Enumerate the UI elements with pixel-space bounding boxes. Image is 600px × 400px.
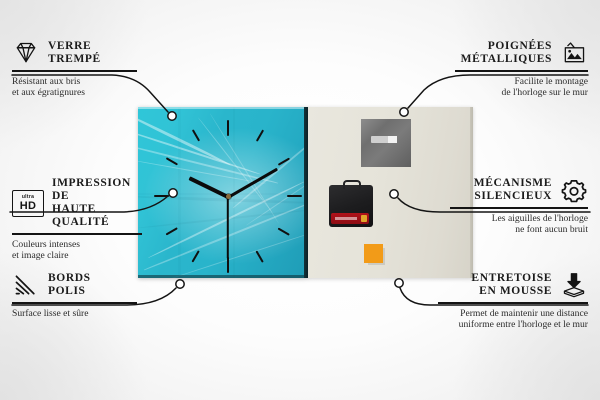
panel-highlight-top [138,107,308,109]
ultra-hd-icon-main-text: HD [20,201,37,212]
clock-center-hub [226,194,231,199]
callout-title-line1: MÉCANISME [474,177,552,190]
callout-rule [455,70,588,72]
callout-rule [12,302,137,304]
clock-tick [227,257,229,273]
clock-tick [154,195,169,197]
callout-verre-trempe[interactable]: VERRE TREMPÉ Résistant aux bris et aux é… [12,40,137,99]
callout-title-line2: HAUTE QUALITÉ [52,203,142,229]
callout-title-line2: POLIS [48,285,91,298]
callout-desc-line2: de l'horloge sur le mur [455,87,588,99]
metal-hanger-plate [361,119,411,167]
clock-tick [192,250,200,262]
callout-bords-polis[interactable]: BORDS POLIS Surface lisse et sûre [12,272,137,319]
callout-header: ultra HD IMPRESSION DE HAUTE QUALITÉ [12,177,142,229]
clock-tick [227,120,229,136]
battery [331,213,369,224]
infographic-canvas: VERRE TREMPÉ Résistant aux bris et aux é… [0,0,600,400]
callout-desc-line1: Surface lisse et sûre [12,308,137,320]
callout-desc-line1: Permet de maintenir une distance [438,308,588,320]
callout-header: VERRE TREMPÉ [12,40,137,66]
clock-tick [192,129,200,141]
hanger-slot [371,136,397,143]
accessories-panel [308,107,473,278]
callout-rule [450,207,588,209]
ultra-hd-icon-top-text: ultra [22,195,34,200]
callout-desc-line1: Les aiguilles de l'horloge [450,213,588,225]
clock-second-hand [227,197,229,259]
callout-title-line2: SILENCIEUX [474,190,552,203]
callout-title-line2: TREMPÉ [48,53,101,66]
foam-spacer-icon [560,272,588,298]
callout-header: ENTRETOISE EN MOUSSE [438,272,588,298]
foam-spacer [364,244,383,263]
callout-title-line1: VERRE [48,40,101,53]
ultra-hd-icon: ultra HD [12,190,44,217]
clock-tick [166,158,178,166]
panel-shadow-bottom [138,275,308,278]
callout-title-line2: MÉTALLIQUES [461,53,552,66]
clock-face-panel [138,107,308,278]
callout-header: POIGNÉES MÉTALLIQUES [455,40,588,66]
product-image [138,107,473,278]
clock-tick [166,228,178,236]
callout-poignees-metalliques[interactable]: POIGNÉES MÉTALLIQUES Facilite le montage… [455,40,588,99]
callout-desc-line1: Résistant aux bris [12,76,137,88]
diamond-icon [12,40,40,66]
clock-tick [287,195,302,197]
gear-icon [560,177,588,203]
callout-rule [438,302,588,304]
callout-desc-line2: et image claire [12,250,142,262]
callout-desc-line1: Couleurs intenses [12,239,142,251]
callout-title-line1: BORDS [48,272,91,285]
callout-title-line1: IMPRESSION DE [52,177,142,203]
wall-mount-frame-icon [560,40,588,66]
callout-title-line1: POIGNÉES [461,40,552,53]
polished-edges-icon [12,272,40,298]
callout-desc-line2: uniforme entre l'horloge et le mur [438,319,588,331]
clock-mechanism [329,185,373,227]
callout-desc-line2: ne font aucun bruit [450,224,588,236]
clock-tick [256,250,264,262]
callout-desc-line2: et aux égratignures [12,87,137,99]
callout-header: MÉCANISME SILENCIEUX [450,177,588,203]
callout-title-line1: ENTRETOISE [471,272,552,285]
clock-hour-hand [188,176,228,198]
callout-title-line2: EN MOUSSE [471,285,552,298]
mechanism-shaft [343,180,361,189]
callout-rule [12,233,142,235]
clock-tick [256,129,264,141]
callout-entretoise-en-mousse[interactable]: ENTRETOISE EN MOUSSE Permet de maintenir… [438,272,588,331]
callout-header: BORDS POLIS [12,272,137,298]
callout-impression-haute-qualite[interactable]: ultra HD IMPRESSION DE HAUTE QUALITÉ Cou… [12,177,142,262]
callout-mecanisme-silencieux[interactable]: MÉCANISME SILENCIEUX Les aiguilles de l'… [450,177,588,236]
callout-desc-line1: Facilite le montage [455,76,588,88]
callout-rule [12,70,137,72]
clock-tick [278,228,290,236]
